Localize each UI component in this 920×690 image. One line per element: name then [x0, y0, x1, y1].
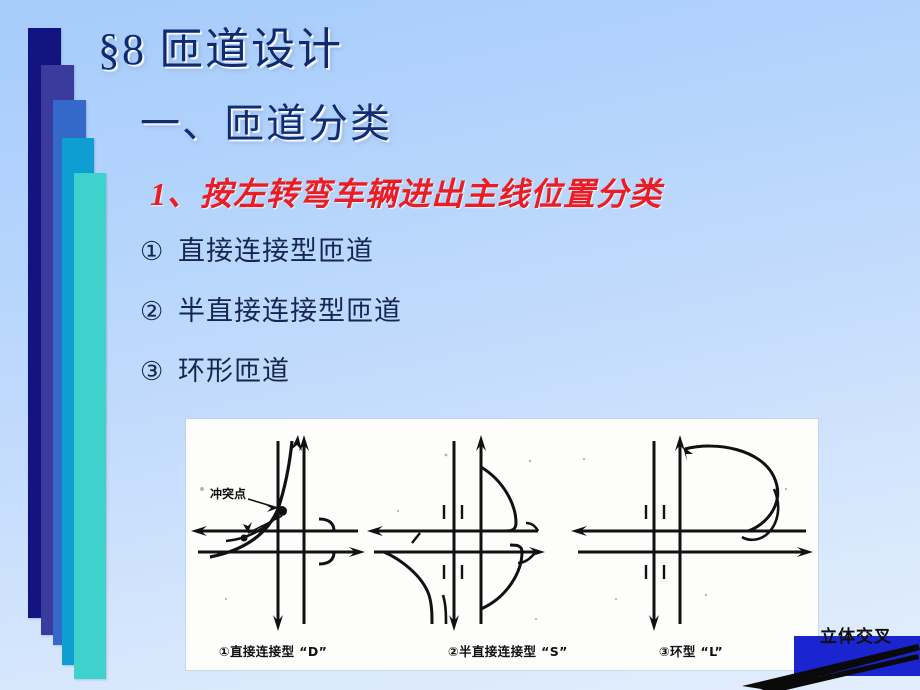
bullet-list: ① 直接连接型匝道 ② 半直接连接型匝道 ③ 环形匝道: [140, 238, 660, 418]
interchange-diagram-svg: [186, 419, 818, 670]
figure-caption-direct: ①直接连接型 “D”: [219, 641, 327, 660]
accent-bar-turquoise: [74, 173, 106, 679]
slide-title: §8 匝道设计: [98, 24, 343, 76]
slide-canvas: §8 匝道设计 一、匝道分类 1、按左转弯车辆进出主线位置分类 ① 直接连接型匝…: [0, 0, 920, 690]
slide-subtitle: 一、匝道分类: [140, 100, 392, 147]
bullet-label: 半直接连接型匝道: [178, 298, 402, 325]
bullet-marker-icon: ②: [140, 299, 178, 325]
footer-label: 立体交叉: [820, 622, 892, 647]
list-item: ③ 环形匝道: [140, 358, 660, 385]
figure-caption-loop: ③环型 “L”: [659, 641, 723, 660]
bullet-label: 环形匝道: [178, 358, 290, 385]
list-item: ② 半直接连接型匝道: [140, 298, 660, 325]
bullet-marker-icon: ①: [140, 239, 178, 265]
interchange-diagram-image: 冲突点 ①直接连接型 “D” ②半直接连接型 “S” ③环型 “L”: [186, 419, 818, 670]
red-section-heading: 1、按左转弯车辆进出主线位置分类: [150, 175, 662, 213]
conflict-point-annotation: 冲突点: [210, 485, 246, 502]
figure-caption-semidirect: ②半直接连接型 “S”: [448, 641, 568, 660]
bullet-label: 直接连接型匝道: [178, 238, 374, 265]
bullet-marker-icon: ③: [140, 359, 178, 385]
list-item: ① 直接连接型匝道: [140, 238, 660, 265]
